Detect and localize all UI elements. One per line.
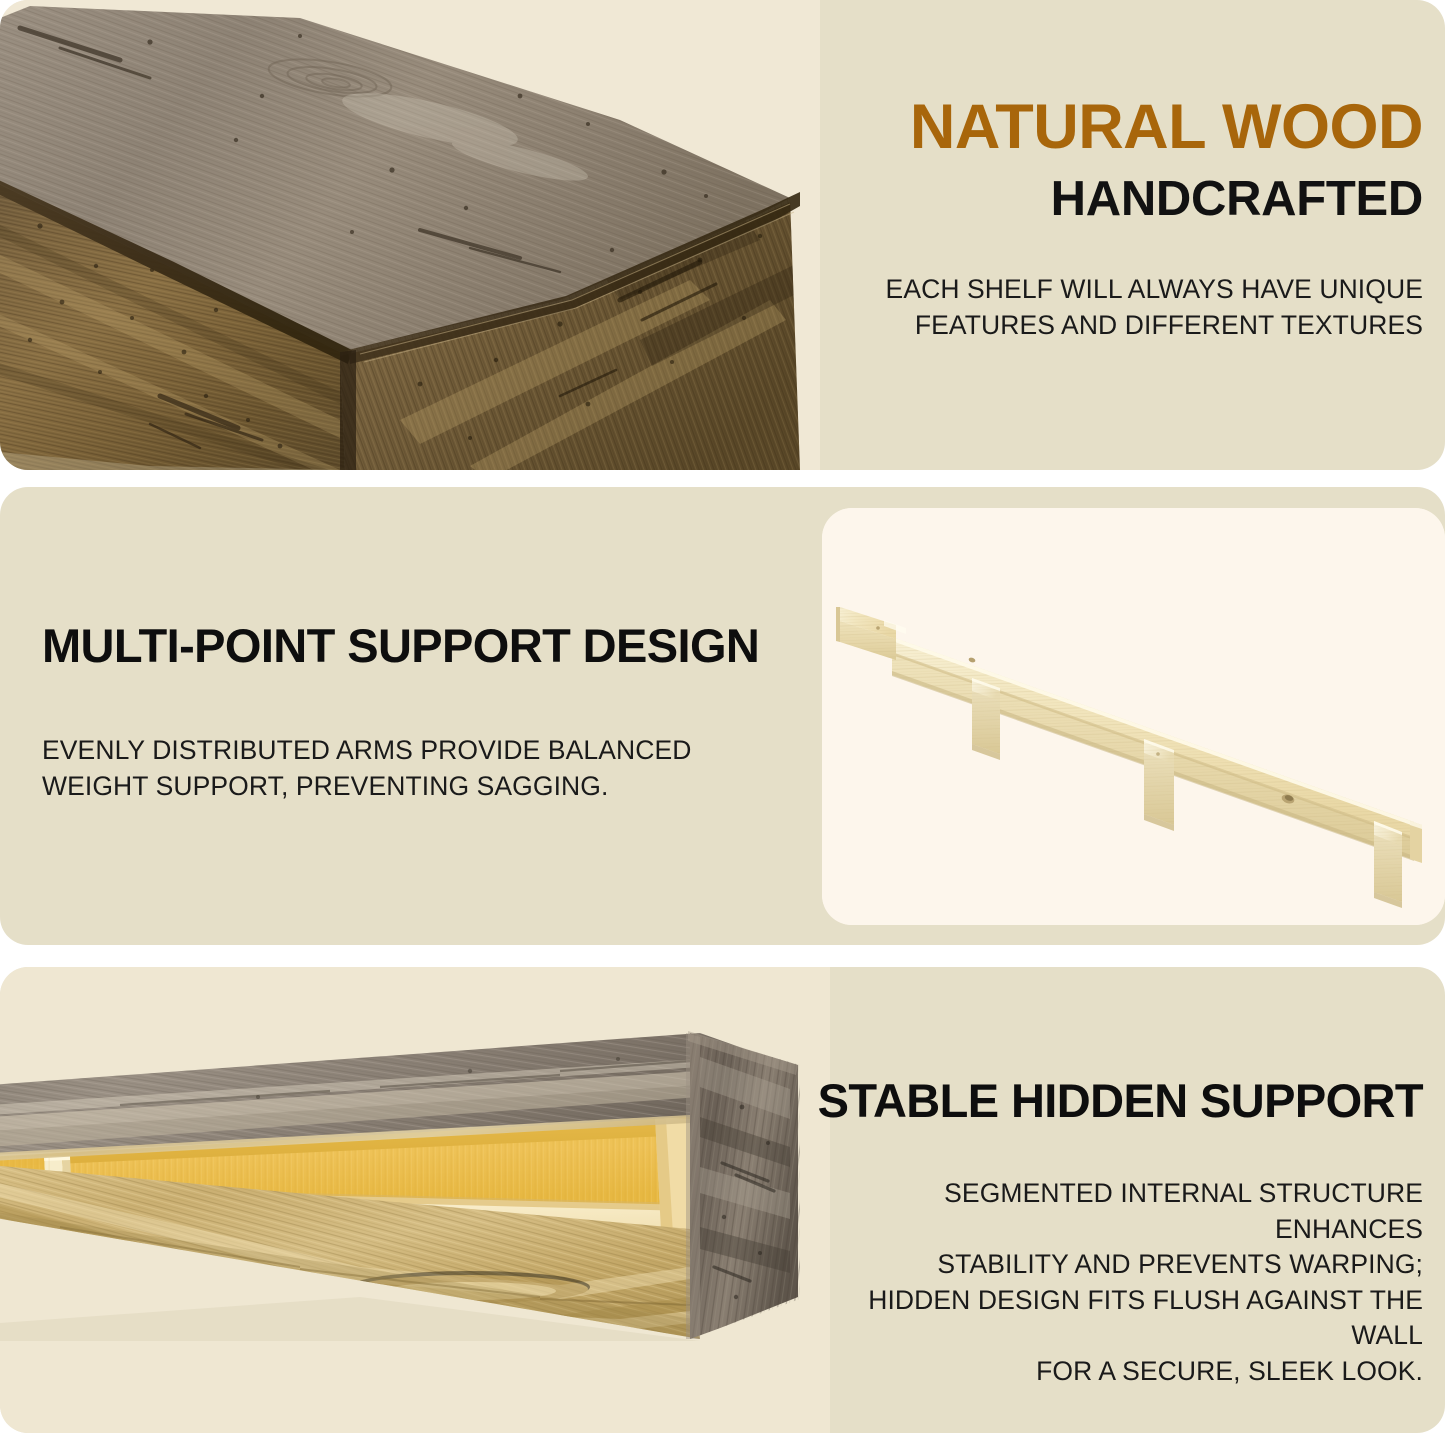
panel-2-body-line-1: EVENLY DISTRIBUTED ARMS PROVIDE BALANCED (42, 733, 782, 769)
panel-1-title-sub: HANDCRAFTED (823, 175, 1423, 224)
wood-shelf-corner-photo (0, 0, 820, 470)
hollow-shelf-illustration (0, 967, 830, 1433)
bracket-photo-card (822, 508, 1445, 925)
wood-shelf-illustration (0, 0, 820, 470)
panel-3-body-line-2: STABILITY AND PREVENTS WARPING; (813, 1247, 1423, 1283)
panel-1-text-block: NATURAL WOOD HANDCRAFTED EACH SHELF WILL… (823, 96, 1423, 343)
panel-1-title-accent: NATURAL WOOD (823, 96, 1423, 159)
panel-3-text-block: STABLE HIDDEN SUPPORT SEGMENTED INTERNAL… (813, 1077, 1423, 1389)
infographic-page: NATURAL WOOD HANDCRAFTED EACH SHELF WILL… (0, 0, 1445, 1433)
panel-natural-wood: NATURAL WOOD HANDCRAFTED EACH SHELF WILL… (0, 0, 1445, 470)
panel-1-body-line-1: EACH SHELF WILL ALWAYS HAVE UNIQUE (823, 272, 1423, 308)
panel-3-body-line-1: SEGMENTED INTERNAL STRUCTURE ENHANCES (813, 1176, 1423, 1247)
panel-2-text-block: MULTI-POINT SUPPORT DESIGN EVENLY DISTRI… (42, 622, 782, 804)
panel-2-body-line-2: WEIGHT SUPPORT, PREVENTING SAGGING. (42, 769, 782, 805)
panel-3-body-line-4: FOR A SECURE, SLEEK LOOK. (813, 1354, 1423, 1390)
hollow-shelf-photo (0, 967, 830, 1433)
panel-3-body-line-3: HIDDEN DESIGN FITS FLUSH AGAINST THE WAL… (813, 1283, 1423, 1354)
panel-stable-hidden-support: STABLE HIDDEN SUPPORT SEGMENTED INTERNAL… (0, 967, 1445, 1433)
panel-1-body-line-2: FEATURES AND DIFFERENT TEXTURES (823, 308, 1423, 344)
panel-3-heading: STABLE HIDDEN SUPPORT (813, 1077, 1423, 1124)
mounting-bracket-illustration (822, 508, 1445, 925)
panel-2-heading: MULTI-POINT SUPPORT DESIGN (42, 622, 782, 669)
panel-multi-point-support: MULTI-POINT SUPPORT DESIGN EVENLY DISTRI… (0, 487, 1445, 945)
